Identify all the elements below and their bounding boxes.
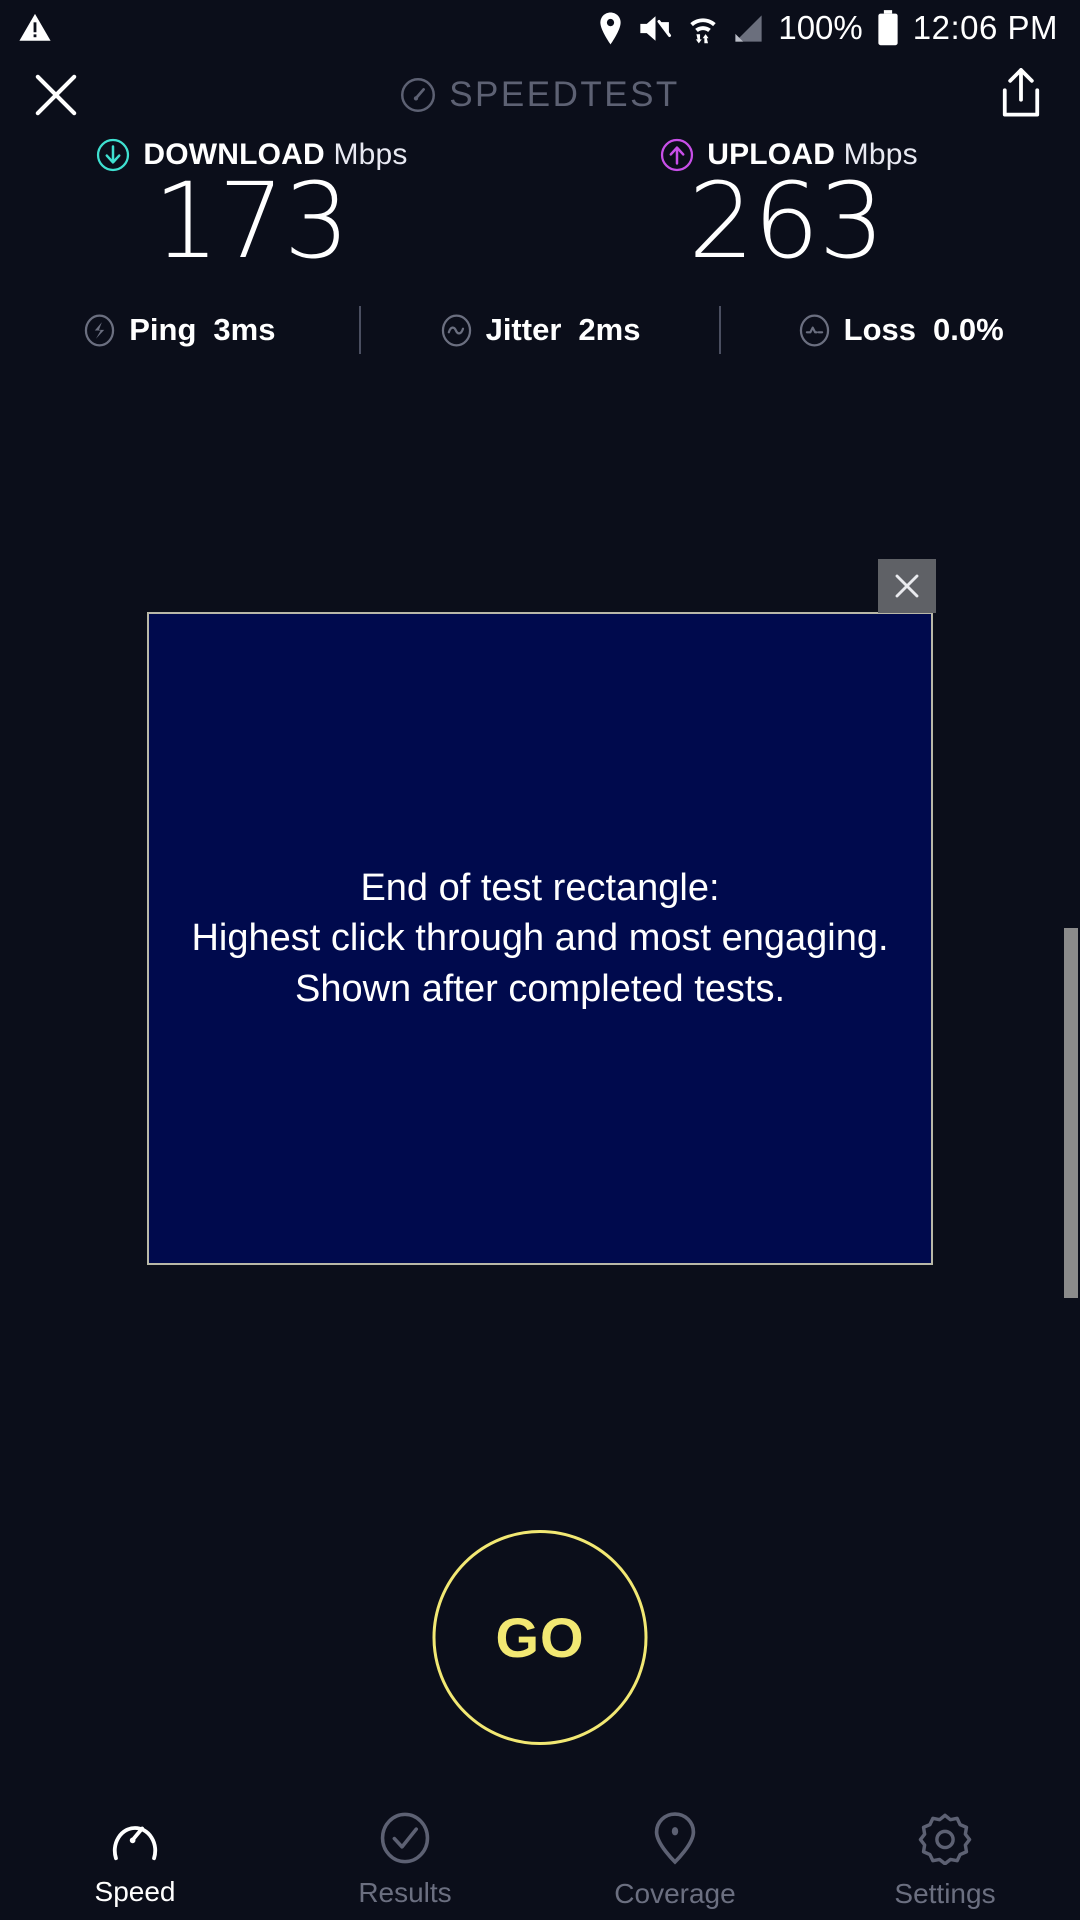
nav-item-coverage[interactable]: Coverage (540, 1800, 810, 1920)
close-button[interactable] (30, 69, 82, 121)
location-pin-icon (597, 12, 624, 45)
nav-item-speed[interactable]: Speed (0, 1800, 270, 1920)
share-button[interactable] (998, 67, 1050, 123)
network-stats-row: Ping 3ms Jitter 2ms Loss 0.0% (0, 302, 1080, 358)
speedometer-icon (107, 1813, 163, 1863)
volume-muted-icon (638, 12, 673, 45)
nav-label-results: Results (358, 1877, 451, 1909)
ad-line-2: Highest click through and most engaging. (191, 913, 888, 964)
status-bar-right: 100% 12:06 PM (597, 9, 1058, 47)
upload-result: UPLOAD Mbps 263 (540, 138, 1080, 274)
status-bar-left (18, 11, 52, 45)
results-panel: DOWNLOAD Mbps 173 UPLOAD Mbps 263 (0, 138, 1080, 274)
ping-icon (83, 314, 116, 347)
download-arrow-icon (96, 138, 130, 172)
go-button[interactable]: GO (433, 1530, 648, 1745)
warning-triangle-icon (18, 11, 52, 45)
advertisement: End of test rectangle: Highest click thr… (147, 612, 933, 1265)
check-circle-icon (377, 1812, 433, 1864)
stat-loss-label: Loss (844, 312, 916, 348)
wifi-transfer-icon (687, 11, 719, 45)
stat-loss: Loss 0.0% (721, 312, 1080, 348)
nav-label-coverage: Coverage (614, 1878, 735, 1910)
nav-label-speed: Speed (95, 1876, 176, 1908)
stat-jitter: Jitter 2ms (361, 312, 720, 348)
gear-icon (918, 1811, 972, 1865)
ad-line-1: End of test rectangle: (191, 863, 888, 914)
app-header: SPEEDTEST (0, 56, 1080, 134)
stat-jitter-value: 2ms (578, 312, 640, 348)
battery-full-icon (877, 10, 899, 46)
status-bar: 100% 12:06 PM (0, 0, 1080, 56)
ad-text: End of test rectangle: Highest click thr… (191, 863, 888, 1015)
nav-item-settings[interactable]: Settings (810, 1800, 1080, 1920)
speedometer-icon (400, 77, 436, 113)
ad-close-button[interactable] (878, 559, 936, 613)
app-title: SPEEDTEST (0, 56, 1080, 134)
clock: 12:06 PM (913, 9, 1058, 47)
stat-ping-label: Ping (129, 312, 196, 348)
scrollbar-thumb[interactable] (1064, 928, 1078, 1298)
stat-jitter-label: Jitter (486, 312, 562, 348)
upload-value: 263 (688, 168, 884, 274)
stat-ping-value: 3ms (213, 312, 275, 348)
location-pin-icon (650, 1811, 700, 1865)
download-result: DOWNLOAD Mbps 173 (0, 138, 540, 274)
bottom-navigation: Speed Results Coverage Settings (0, 1800, 1080, 1920)
battery-percentage: 100% (778, 9, 862, 47)
ad-banner[interactable]: End of test rectangle: Highest click thr… (147, 612, 933, 1265)
ad-line-3: Shown after completed tests. (191, 964, 888, 1015)
loss-icon (798, 314, 831, 347)
results-row: DOWNLOAD Mbps 173 UPLOAD Mbps 263 (0, 138, 1080, 274)
nav-label-settings: Settings (894, 1878, 995, 1910)
brand-name: SPEEDTEST (449, 75, 680, 115)
stat-ping: Ping 3ms (0, 312, 359, 348)
jitter-icon (440, 314, 473, 347)
nav-item-results[interactable]: Results (270, 1800, 540, 1920)
cellular-signal-icon (733, 13, 764, 44)
go-button-label: GO (495, 1605, 584, 1670)
stat-loss-value: 0.0% (933, 312, 1004, 348)
download-value: 173 (153, 168, 349, 274)
